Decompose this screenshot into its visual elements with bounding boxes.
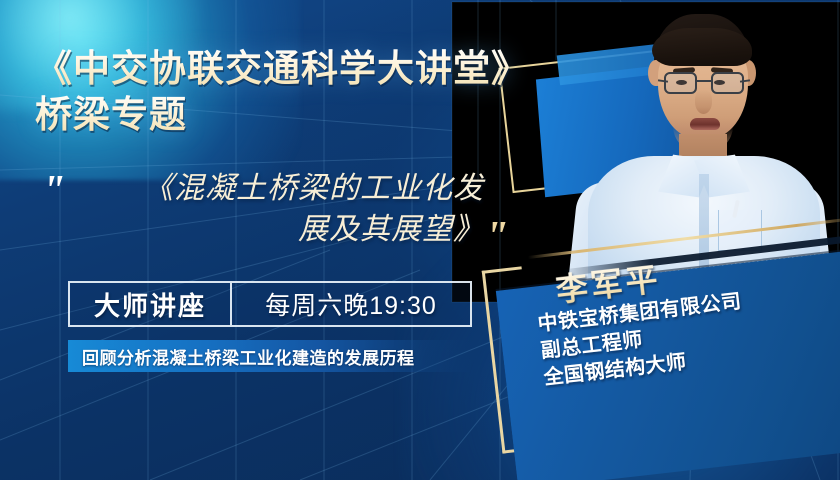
lecture-schedule-label: 每周六晚19:30 [232, 283, 470, 325]
glasses-lens-left [664, 72, 697, 94]
lecture-subtitle-bar: 回顾分析混凝土桥梁工业化建造的发展历程 [68, 340, 472, 372]
quote-text-line-1: 《混凝土桥梁的工业化发 [94, 168, 484, 209]
lecture-subtitle-text: 回顾分析混凝土桥梁工业化建造的发展历程 [68, 344, 415, 369]
title-line-1: 《中交协联交通科学大讲堂》 [35, 46, 555, 92]
portrait-fringe [652, 28, 752, 66]
portrait-nose [695, 90, 712, 114]
speaker-info-card: 李军平 中铁宝桥集团有限公司 副总工程师 全国钢结构大师 [490, 246, 840, 480]
page-title: 《中交协联交通科学大讲堂》 桥梁专题 [35, 46, 555, 138]
lecture-info-box: 大师讲座 每周六晚19:30 [68, 281, 472, 327]
quote-text: 《混凝土桥梁的工业化发 展及其展望》 [94, 168, 484, 250]
lecture-type-label: 大师讲座 [70, 283, 230, 325]
quote-open-mark-icon: " [42, 170, 65, 212]
quote-text-line-2: 展及其展望》 [94, 209, 484, 250]
glasses-lens-right [711, 72, 744, 94]
lecture-topic-quote: " 《混凝土桥梁的工业化发 展及其展望》 " [38, 168, 548, 268]
speaker-card-text: 李军平 中铁宝桥集团有限公司 副总工程师 全国钢结构大师 [532, 251, 749, 392]
lecture-promo-poster: 《中交协联交通科学大讲堂》 桥梁专题 " 《混凝土桥梁的工业化发 展及其展望》 … [0, 0, 840, 480]
glasses-bridge [697, 80, 711, 82]
title-line-2: 桥梁专题 [35, 92, 555, 138]
